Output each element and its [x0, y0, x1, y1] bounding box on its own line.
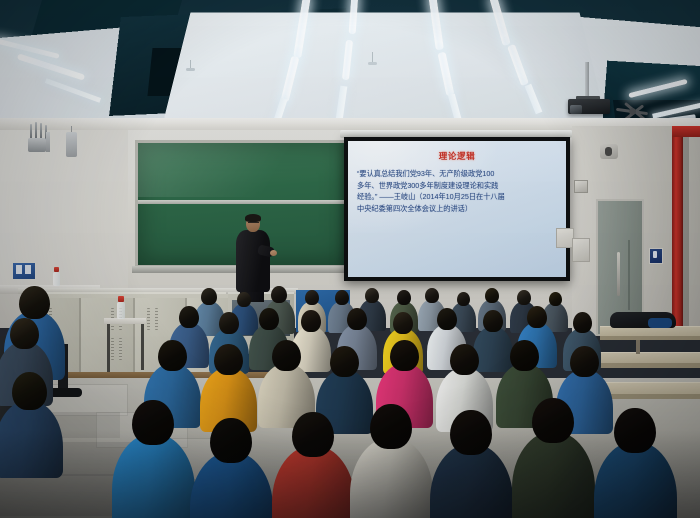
front-left-student-torso	[0, 400, 63, 478]
blue-puffer-student-head	[19, 286, 50, 319]
striped-sleeve-student-head	[10, 318, 39, 349]
front-left-student-head	[12, 372, 47, 410]
classroom-photo: 理论逻辑 “要认真总结我们党93年、无产阶级政党100 多年、世界政党300多年…	[0, 0, 700, 518]
side-students-left	[0, 0, 700, 518]
